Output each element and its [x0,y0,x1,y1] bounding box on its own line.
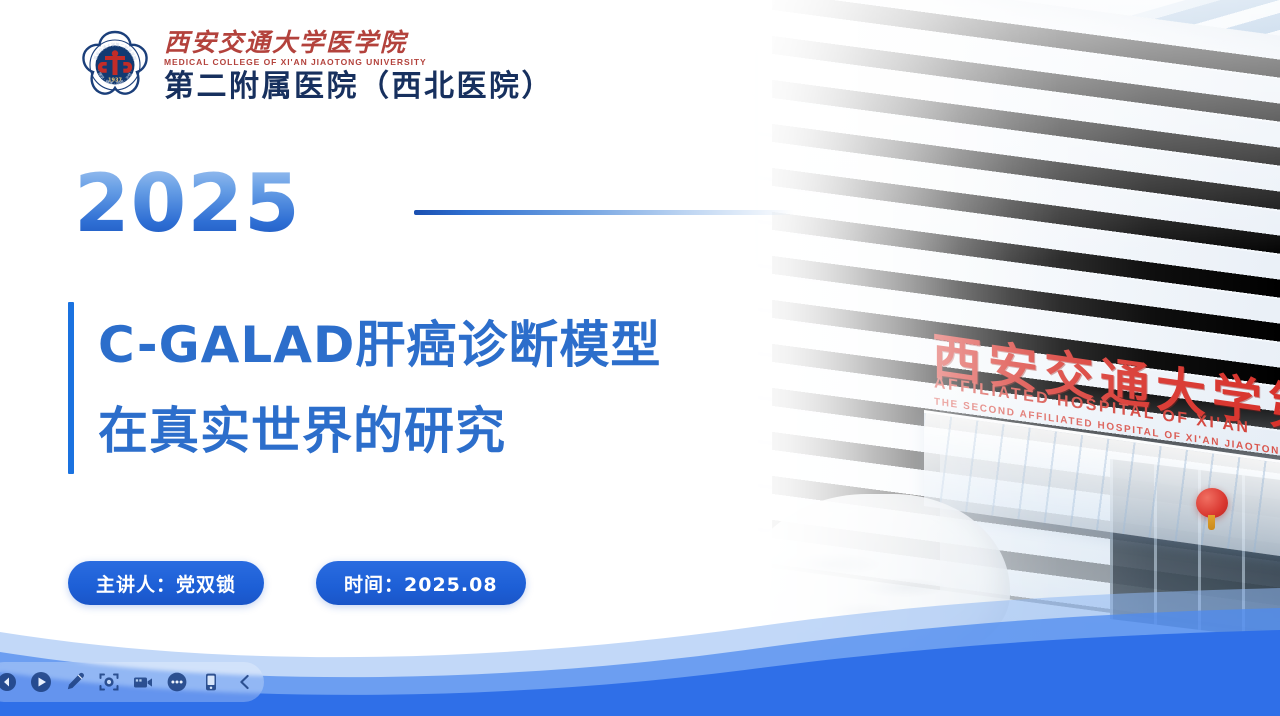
title-accent-bar [68,302,74,474]
logo-text-block: 西安交通大学医学院 MEDICAL COLLEGE OF XI'AN JIAOT… [164,28,554,105]
hospital-logo: 1937 西安交通大学第二附属医院 · 博学 · 精术 · 厚德 · 济世 · … [78,28,554,105]
scan-frame-icon[interactable] [94,667,124,697]
date-pill[interactable]: 时间：2025.08 [316,561,526,605]
year-label: 2025 [74,164,301,244]
logo-hospital-name: 第二附属医院（西北医院） [164,70,554,105]
more-dots-icon[interactable] [162,667,192,697]
title-lines: C-GALAD肝癌诊断模型 在真实世界的研究 [98,302,661,474]
mobile-phone-icon[interactable] [196,667,226,697]
page-title-line-2: 在真实世界的研究 [98,388,661,474]
back-circle-icon[interactable] [0,667,22,697]
header-divider-rule [414,210,794,215]
university-seal-icon: 1937 西安交通大学第二附属医院 · 博学 · 精术 · 厚德 · 济世 · [78,29,152,105]
page-title-line-1: C-GALAD肝癌诊断模型 [98,302,661,388]
year-row: 2025 [74,164,794,250]
slide-title: C-GALAD肝癌诊断模型 在真实世界的研究 [68,302,661,474]
speaker-pill[interactable]: 主讲人：党双锁 [68,561,264,605]
meta-pills: 主讲人：党双锁 时间：2025.08 [68,561,526,605]
logo-script-chinese: 西安交通大学医学院 [164,30,554,56]
logo-english-line: MEDICAL COLLEGE OF XI'AN JIAOTONG UNIVER… [164,57,554,67]
player-toolbar[interactable] [0,662,264,702]
play-circle-icon[interactable] [26,667,56,697]
presentation-slide: 西安交通大学第二 AFFILIATED HOSPITAL OF XI'AN TH… [0,0,1280,716]
video-camera-icon[interactable] [128,667,158,697]
chevron-left-icon[interactable] [230,667,260,697]
pencil-icon[interactable] [60,667,90,697]
